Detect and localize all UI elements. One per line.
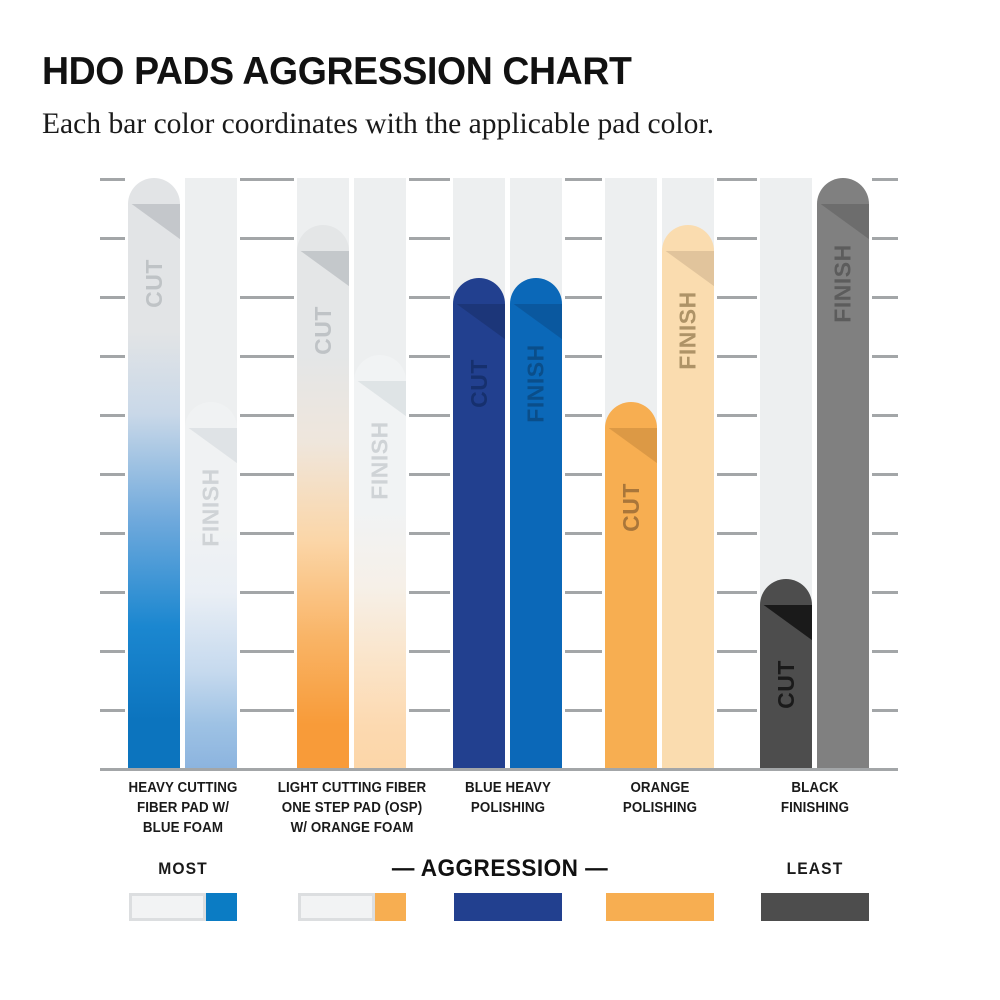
gridline	[717, 532, 757, 535]
gridline	[409, 650, 450, 653]
bar-blue-heavy-polishing-finish	[510, 276, 562, 768]
gridline	[100, 532, 125, 535]
gridline	[409, 296, 450, 299]
gridline	[717, 178, 757, 181]
gridline	[717, 709, 757, 712]
gridline	[409, 414, 450, 417]
gridline	[100, 355, 125, 358]
gridline	[565, 650, 602, 653]
gridline	[240, 355, 294, 358]
gridline	[872, 414, 898, 417]
gridline	[409, 473, 450, 476]
gridline	[565, 178, 602, 181]
gridline	[409, 178, 450, 181]
gridline	[100, 414, 125, 417]
gridline	[872, 296, 898, 299]
category-label-line: HEAVY CUTTING	[86, 778, 279, 798]
legend-swatch-black-finishing[interactable]	[761, 893, 869, 921]
gridline	[240, 473, 294, 476]
gridline	[717, 650, 757, 653]
gridline	[409, 709, 450, 712]
category-label-black-finishing: BLACKFINISHING	[718, 778, 911, 818]
gridline	[872, 650, 898, 653]
gridline	[240, 237, 294, 240]
gridline	[100, 296, 125, 299]
gridline	[100, 237, 125, 240]
least-aggression-label: LEAST	[741, 859, 888, 879]
most-aggression-label: MOST	[109, 859, 256, 879]
bar-heavy-cutting-fiber-pad-cut	[128, 176, 180, 768]
aggression-chart: CUTFINISHHEAVY CUTTINGFIBER PAD W/BLUE F…	[0, 0, 1000, 1000]
gridline	[717, 237, 757, 240]
gridline	[240, 178, 294, 181]
legend-swatch-light-cutting-fiber-osp[interactable]	[298, 893, 406, 921]
gridline	[565, 237, 602, 240]
gridline	[565, 473, 602, 476]
gridline	[717, 473, 757, 476]
bar-body	[817, 178, 869, 768]
gridline	[240, 591, 294, 594]
category-label-line: FIBER PAD W/	[86, 798, 279, 818]
gridline	[717, 355, 757, 358]
gridline	[100, 178, 125, 181]
category-label-heavy-cutting-fiber-pad: HEAVY CUTTINGFIBER PAD W/BLUE FOAM	[86, 778, 279, 838]
gridline	[872, 473, 898, 476]
bar-orange-polishing-cut	[605, 400, 657, 768]
bar-light-cutting-fiber-osp-finish	[354, 353, 406, 768]
gridline	[100, 473, 125, 476]
axis-baseline	[100, 768, 898, 771]
category-label-line: BLACK	[718, 778, 911, 798]
bar-track	[185, 178, 237, 428]
gridline	[409, 532, 450, 535]
bar-black-finishing-finish	[817, 176, 869, 768]
legend-swatch-base	[129, 893, 206, 921]
legend-swatch-heavy-cutting-fiber-pad[interactable]	[129, 893, 237, 921]
bar-heavy-cutting-fiber-pad-finish	[185, 400, 237, 768]
gridline	[872, 355, 898, 358]
bar-track	[354, 178, 406, 381]
category-label-line: FINISHING	[718, 798, 911, 818]
legend-swatch-accent	[375, 893, 406, 921]
bar-body	[510, 278, 562, 768]
legend-swatch-base	[761, 893, 869, 921]
gridline	[409, 237, 450, 240]
gridline	[717, 296, 757, 299]
bar-body	[453, 278, 505, 768]
gridline	[100, 650, 125, 653]
gridline	[240, 296, 294, 299]
bar-track	[760, 178, 812, 605]
gridline	[717, 414, 757, 417]
gridline	[240, 532, 294, 535]
bar-light-cutting-fiber-osp-cut	[297, 223, 349, 768]
gridline	[409, 355, 450, 358]
legend-swatch-base	[454, 893, 562, 921]
gridline	[872, 532, 898, 535]
legend-swatch-orange-polishing[interactable]	[606, 893, 714, 921]
gridline	[100, 709, 125, 712]
bar-track	[605, 178, 657, 428]
gridline	[240, 414, 294, 417]
gridline	[872, 178, 898, 181]
gridline	[872, 591, 898, 594]
gridline	[100, 591, 125, 594]
legend-swatch-base	[606, 893, 714, 921]
gridline	[565, 532, 602, 535]
gridline	[872, 709, 898, 712]
gridline	[565, 414, 602, 417]
gridline	[565, 355, 602, 358]
bar-body	[297, 225, 349, 768]
bar-body	[662, 225, 714, 768]
legend-swatch-blue-heavy-polishing[interactable]	[454, 893, 562, 921]
gridline	[717, 591, 757, 594]
category-label-line: BLUE FOAM	[86, 818, 279, 838]
bar-body	[354, 355, 406, 768]
gridline	[240, 650, 294, 653]
gridline	[565, 709, 602, 712]
legend-swatch-base	[298, 893, 375, 921]
gridline	[565, 296, 602, 299]
gridline	[240, 709, 294, 712]
legend-swatch-accent	[206, 893, 237, 921]
bar-body	[128, 178, 180, 768]
bar-blue-heavy-polishing-cut	[453, 276, 505, 768]
aggression-axis-label: — AGGRESSION —	[387, 855, 613, 883]
gridline	[872, 237, 898, 240]
category-label-line: W/ ORANGE FOAM	[255, 818, 448, 838]
bar-black-finishing-cut	[760, 577, 812, 768]
gridline	[565, 591, 602, 594]
bar-orange-polishing-finish	[662, 223, 714, 768]
gridline	[409, 591, 450, 594]
